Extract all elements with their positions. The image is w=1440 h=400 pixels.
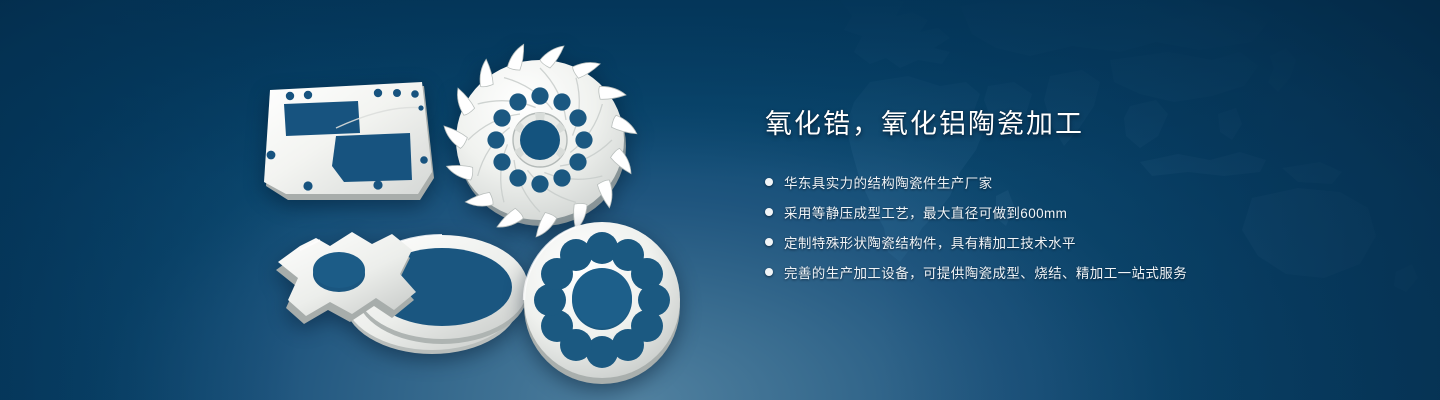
bullet-dot-icon	[765, 208, 773, 216]
feature-text: 定制特殊形状陶瓷结构件，具有精加工技术水平	[784, 232, 1076, 252]
ceramic-vaned-impeller	[444, 44, 637, 237]
list-item: 华东具实力的结构陶瓷件生产厂家	[765, 171, 1365, 193]
list-item: 采用等静压成型工艺，最大直径可做到600mm	[765, 201, 1365, 223]
feature-text: 华东具实力的结构陶瓷件生产厂家	[784, 172, 993, 192]
ceramic-machined-plate	[264, 82, 434, 200]
bullet-dot-icon	[765, 238, 773, 246]
feature-text: 完善的生产加工设备，可提供陶瓷成型、烧结、精加工一站式服务	[784, 262, 1187, 282]
ceramic-perforated-disc	[524, 222, 680, 384]
ceramic-cross-plate	[276, 232, 416, 324]
bullet-dot-icon	[765, 178, 773, 186]
list-item: 完善的生产加工设备，可提供陶瓷成型、烧结、精加工一站式服务	[765, 261, 1365, 283]
banner-feature-list: 华东具实力的结构陶瓷件生产厂家 采用等静压成型工艺，最大直径可做到600mm 定…	[765, 171, 1365, 283]
bullet-dot-icon	[765, 268, 773, 276]
ceramic-products-photo-group	[0, 0, 760, 400]
ceramic-products-hero-banner: 氧化锆，氧化铝陶瓷加工 华东具实力的结构陶瓷件生产厂家 采用等静压成型工艺，最大…	[0, 0, 1440, 400]
feature-text: 采用等静压成型工艺，最大直径可做到600mm	[784, 202, 1067, 222]
banner-copy-block: 氧化锆，氧化铝陶瓷加工 华东具实力的结构陶瓷件生产厂家 采用等静压成型工艺，最大…	[765, 108, 1365, 291]
ceramic-cross-plate-rings	[276, 232, 528, 354]
banner-title: 氧化锆，氧化铝陶瓷加工	[765, 108, 1365, 142]
list-item: 定制特殊形状陶瓷结构件，具有精加工技术水平	[765, 231, 1365, 253]
